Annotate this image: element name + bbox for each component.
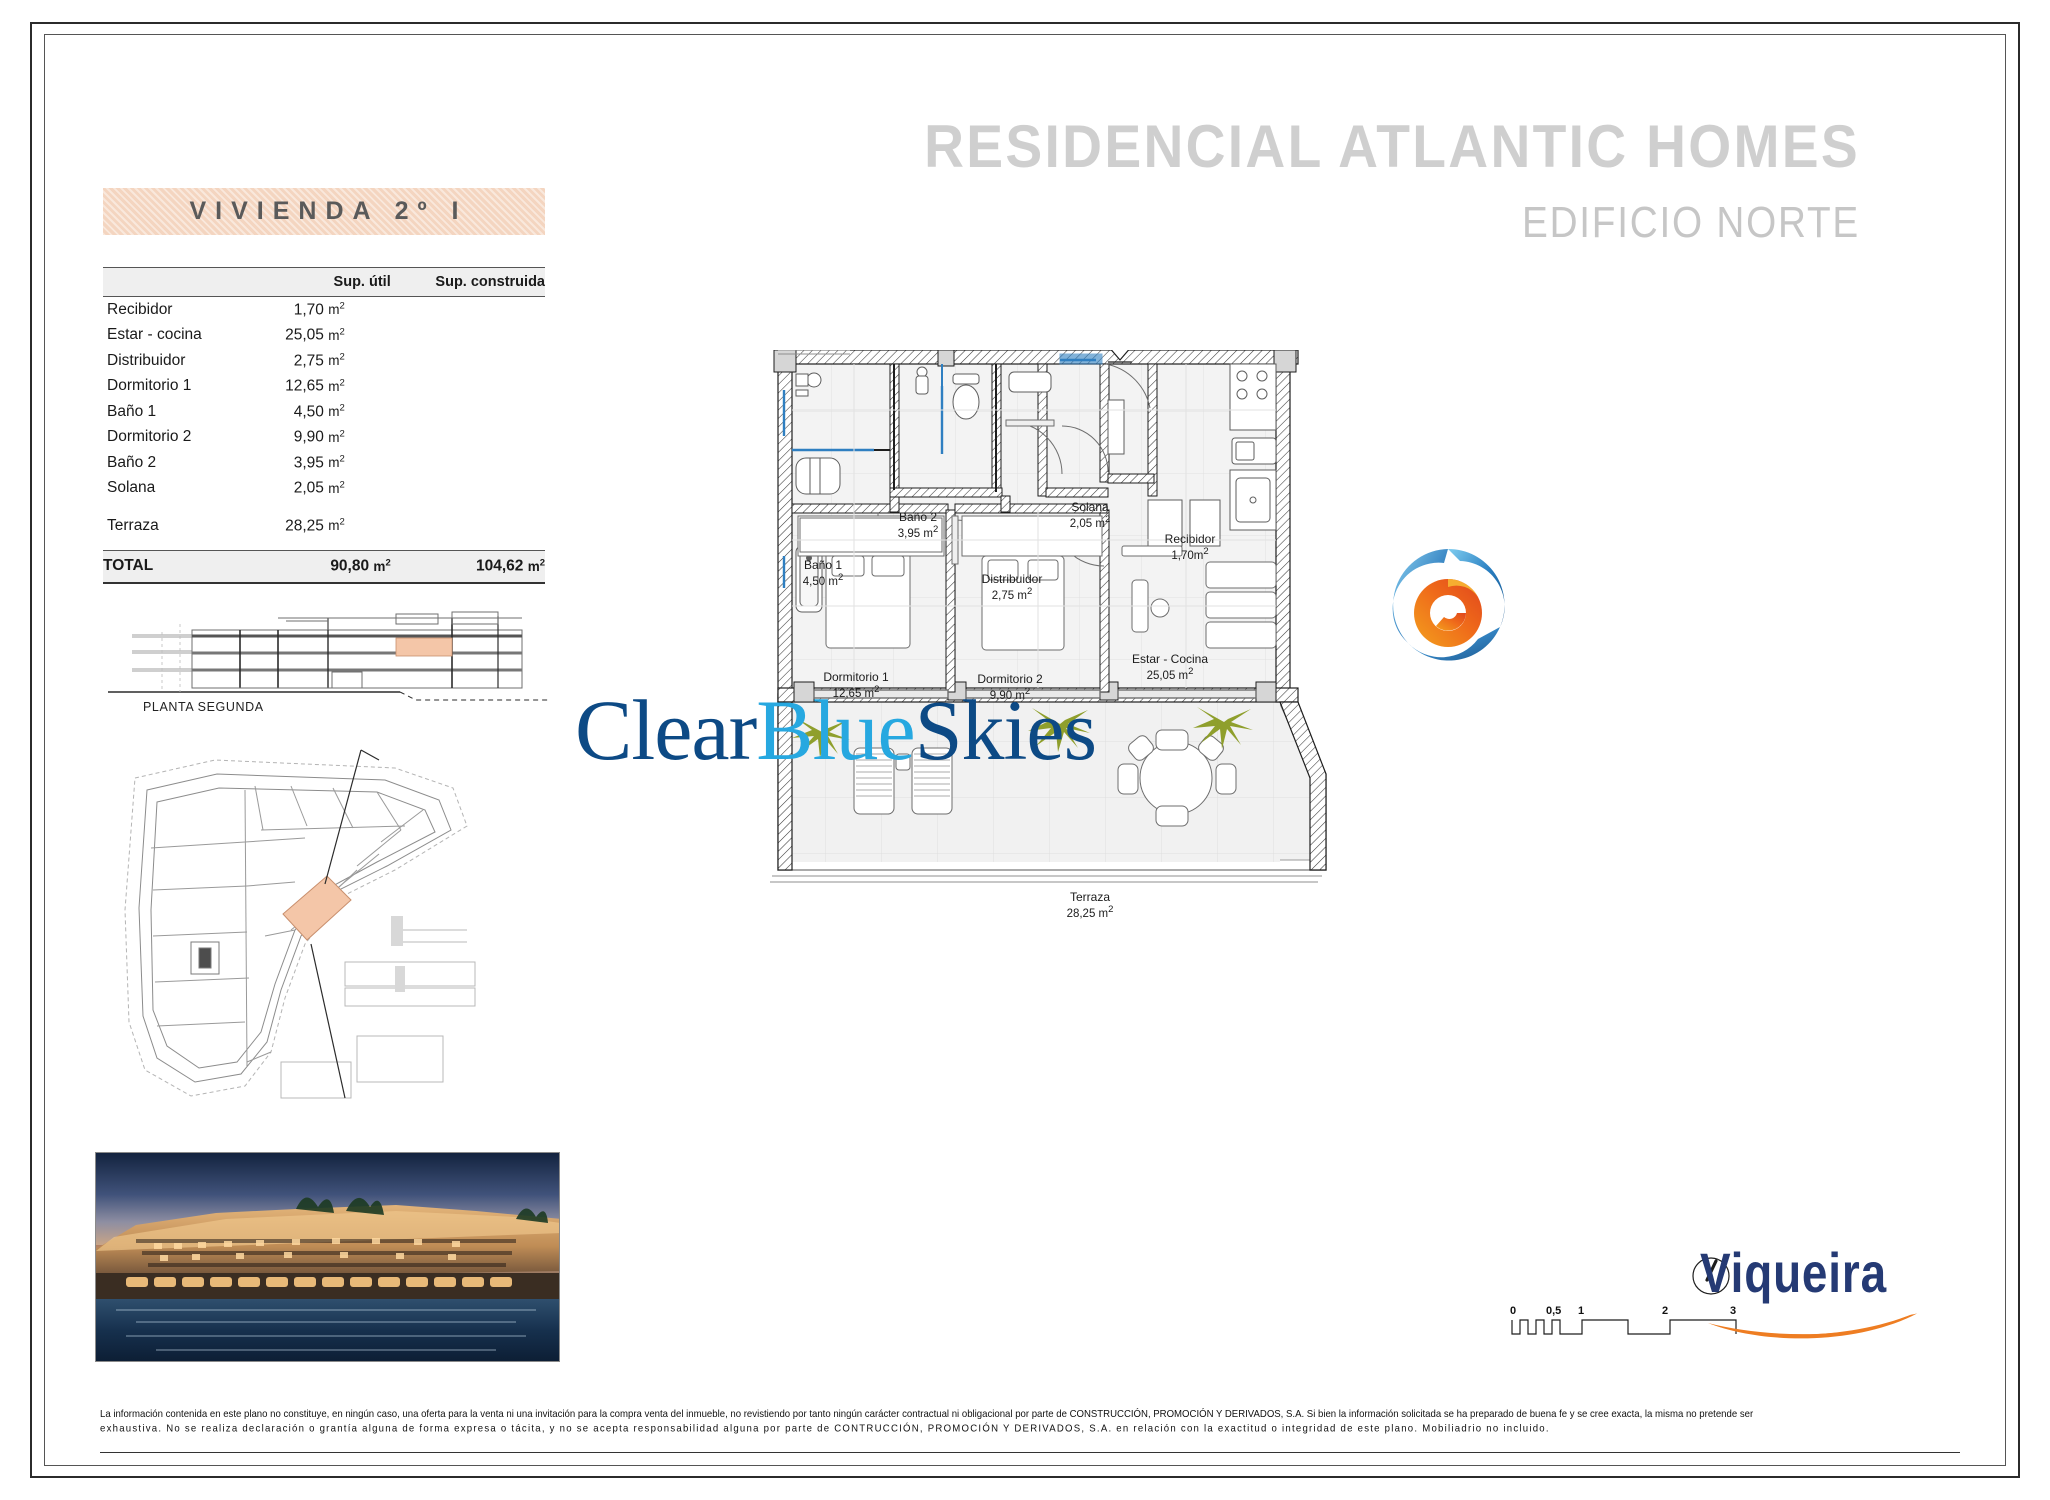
highlighted-floor-unit [396,638,452,656]
unit-banner: VIVIENDA 2º I [103,188,545,235]
row-room-name: Distribuidor [103,348,242,374]
table-spacer [103,539,545,551]
room-label-4: Distribuidor2,75 m2 [982,572,1043,604]
viqueira-logo: Viqueira [1700,1240,1960,1350]
row-sup-util: 2,75 m2 [242,348,391,374]
room-label-name: Dormitorio 2 [977,672,1042,686]
table-row: Baño 14,50 m2 [103,399,545,425]
row-room-name: Solana [103,476,242,502]
room-label-area: 9,90 m2 [977,686,1042,703]
row-sup-construida [391,374,545,400]
room-label-5: Dormitorio 112,65 m2 [823,670,888,702]
row-sup-util: 9,90 m2 [242,425,391,451]
room-label-6: Dormitorio 29,90 m2 [977,672,1042,704]
viqueira-swoosh-icon [1700,1305,1960,1339]
table-row: Estar - cocina25,05 m2 [103,323,545,349]
svg-text:1: 1 [1578,1305,1584,1317]
table-row-total: TOTAL90,80 m2104,62 m2 [103,551,545,583]
room-label-area: 1,70m2 [1165,546,1216,563]
room-label-name: Distribuidor [982,572,1043,586]
row-sup-util: 3,95 m2 [242,450,391,476]
room-label-area: 12,65 m2 [823,684,888,701]
viqueira-wordmark: Viqueira [1700,1240,1913,1305]
row-sup-construida [391,399,545,425]
development-render-photo [95,1152,560,1362]
room-label-area: 3,95 m2 [898,524,938,541]
table-row: Dormitorio 29,90 m2 [103,425,545,451]
row-sup-construida [391,450,545,476]
room-label-1: Solana2,05 m2 [1070,500,1110,532]
table-row: Baño 23,95 m2 [103,450,545,476]
room-label-area: 4,50 m2 [803,572,843,589]
project-title: RESIDENCIAL ATLANTIC HOMES [793,112,1860,181]
col-header-construida: Sup. construida [391,268,545,297]
disclaimer-line-2: exhaustiva. No se realiza declaración o … [100,1422,1960,1437]
row-room-name: Dormitorio 2 [103,425,242,451]
table-spacer [103,501,545,513]
table-row: Distribuidor2,75 m2 [103,348,545,374]
row-room-name: Recibidor [103,297,242,323]
room-label-name: Solana [1070,500,1110,514]
disclaimer-rule [100,1452,1960,1453]
row-sup-util: 4,50 m2 [242,399,391,425]
project-subtitle: EDIFICIO NORTE [839,198,1860,248]
room-label-area: 28,25 m2 [1067,904,1114,921]
unit-banner-label: VIVIENDA 2º I [180,197,467,226]
clearblueskies-logo-icon [1378,543,1518,673]
room-label-7: Estar - Cocina25,05 m2 [1132,652,1208,684]
building-elevation-diagram [100,588,550,713]
room-label-name: Estar - Cocina [1132,652,1208,666]
room-label-3: Baño 14,50 m2 [803,558,843,590]
elevation-caption: PLANTA SEGUNDA [143,700,264,714]
row-room-name: Dormitorio 1 [103,374,242,400]
room-label-0: Baño 23,95 m2 [898,510,938,542]
row-room-name: Baño 1 [103,399,242,425]
col-header-room [103,268,242,297]
total-label: TOTAL [103,551,242,583]
svg-text:2: 2 [1662,1305,1668,1317]
room-label-area: 2,75 m2 [982,586,1043,603]
row-sup-util: 1,70 m2 [242,297,391,323]
table-row: Solana2,05 m2 [103,476,545,502]
table-row: Recibidor1,70 m2 [103,297,545,323]
row-sup-util: 28,25 m2 [242,513,391,539]
table-row-terrace: Terraza28,25 m2 [103,513,545,539]
plan-sheet: RESIDENCIAL ATLANTIC HOMES EDIFICIO NORT… [0,0,2050,1500]
total-sup-util: 90,80 m2 [242,551,391,583]
row-sup-construida [391,425,545,451]
room-label-2: Recibidor1,70m2 [1165,532,1216,564]
row-sup-construida [391,323,545,349]
room-label-name: Baño 2 [898,510,938,524]
row-room-name: Estar - cocina [103,323,242,349]
site-keyplan-diagram [95,730,565,1130]
floor-plan-drawing: Baño 23,95 m2Solana2,05 m2Recibidor1,70m… [770,350,1950,1150]
row-sup-util: 25,05 m2 [242,323,391,349]
room-label-name: Recibidor [1165,532,1216,546]
room-label-8: Terraza28,25 m2 [1067,890,1114,922]
row-room-name: Terraza [103,513,242,539]
room-label-area: 2,05 m2 [1070,514,1110,531]
row-sup-construida [391,297,545,323]
row-sup-util: 2,05 m2 [242,476,391,502]
row-room-name: Baño 2 [103,450,242,476]
table-row: Dormitorio 112,65 m2 [103,374,545,400]
room-label-name: Dormitorio 1 [823,670,888,684]
legal-disclaimer: La información contenida en este plano n… [100,1407,1960,1436]
total-sup-construida: 104,62 m2 [391,551,545,583]
col-header-util: Sup. útil [242,268,391,297]
room-label-area: 25,05 m2 [1132,666,1208,683]
areas-table: Sup. útil Sup. construida Recibidor1,70 … [103,267,545,584]
areas-table-header: Sup. útil Sup. construida [103,268,545,297]
room-label-name: Baño 1 [803,558,843,572]
svg-text:0,5: 0,5 [1546,1305,1561,1317]
row-sup-construida [391,348,545,374]
room-label-name: Terraza [1067,890,1114,904]
svg-text:0: 0 [1510,1305,1516,1317]
row-sup-util: 12,65 m2 [242,374,391,400]
row-sup-construida [391,476,545,502]
disclaimer-line-1: La información contenida en este plano n… [100,1407,1960,1422]
